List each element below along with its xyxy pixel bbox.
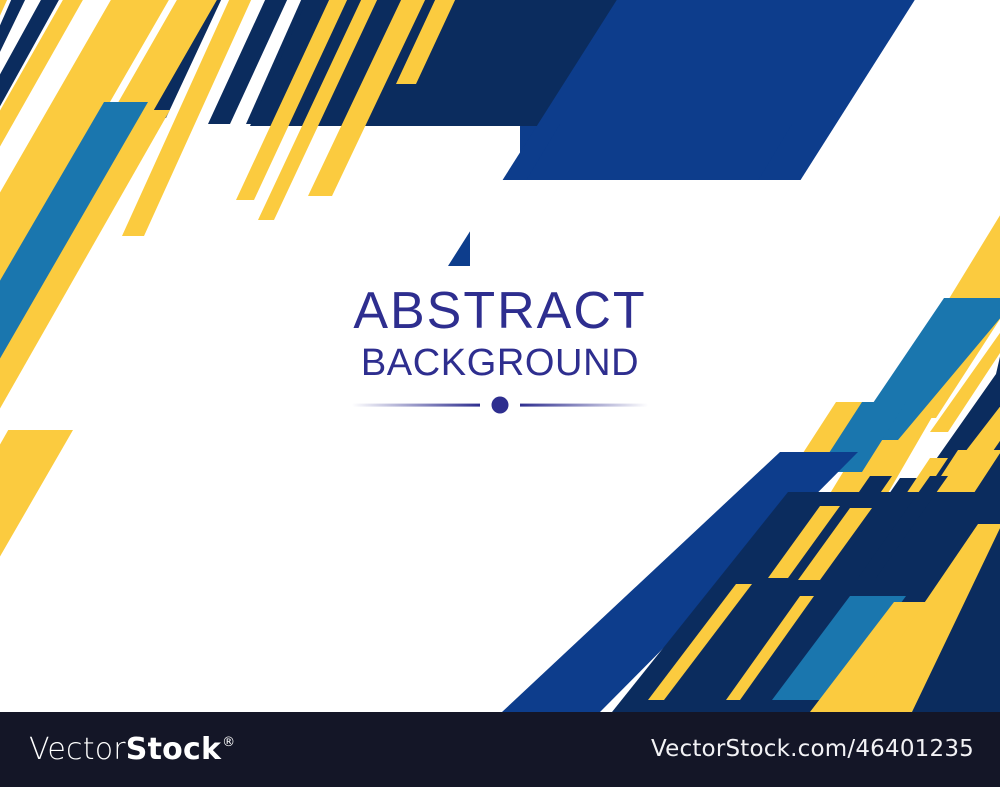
vectorstock-logo: Vector Stock ® — [29, 734, 235, 766]
divider-dot — [492, 397, 509, 414]
divider-svg — [340, 396, 660, 414]
abstract-artwork — [0, 0, 1000, 712]
poster-canvas: ABSTRACT BACKGROUND — [0, 0, 1000, 787]
logo-text-stock: Stock — [126, 734, 221, 766]
artwork-svg — [0, 0, 1000, 712]
watermark-url: VectorStock.com/46401235 — [651, 735, 974, 763]
bottom-right-group — [470, 180, 1000, 712]
registered-mark-icon: ® — [222, 736, 235, 750]
dot-divider-ornament — [340, 396, 660, 414]
divider-line-right — [520, 404, 648, 407]
logo-text-vector: Vector — [29, 734, 126, 766]
divider-line-left — [352, 404, 480, 407]
